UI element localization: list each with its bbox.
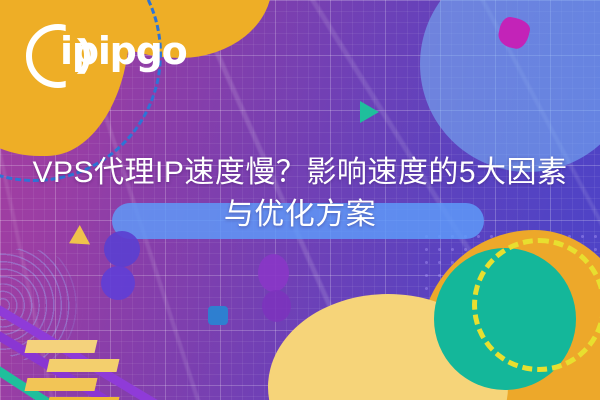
dot-purple-d	[262, 290, 291, 322]
brand-logo[interactable]: ipipgo	[26, 20, 206, 82]
dot-purple-b	[101, 266, 135, 300]
title-block: VPS代理IP速度慢？影响速度的5大因素与优化方案	[0, 152, 600, 236]
circle-dashed-yellow-shape	[472, 238, 600, 372]
triangle-green-icon	[360, 101, 379, 123]
dot-purple-a	[104, 231, 140, 267]
page-title: VPS代理IP速度慢？影响速度的5大因素与优化方案	[26, 152, 574, 236]
article-cover-banner: VPS代理IP速度慢？影响速度的5大因素与优化方案 ipipgo	[0, 0, 600, 400]
bar-yellow-1	[24, 340, 97, 353]
bar-yellow-3	[24, 378, 97, 391]
square-blue	[208, 306, 228, 325]
brand-logo-text: ipipgo	[60, 31, 187, 71]
bars-yellow-stack	[26, 340, 118, 400]
dot-purple-c	[258, 254, 289, 292]
bar-yellow-2	[46, 359, 119, 372]
